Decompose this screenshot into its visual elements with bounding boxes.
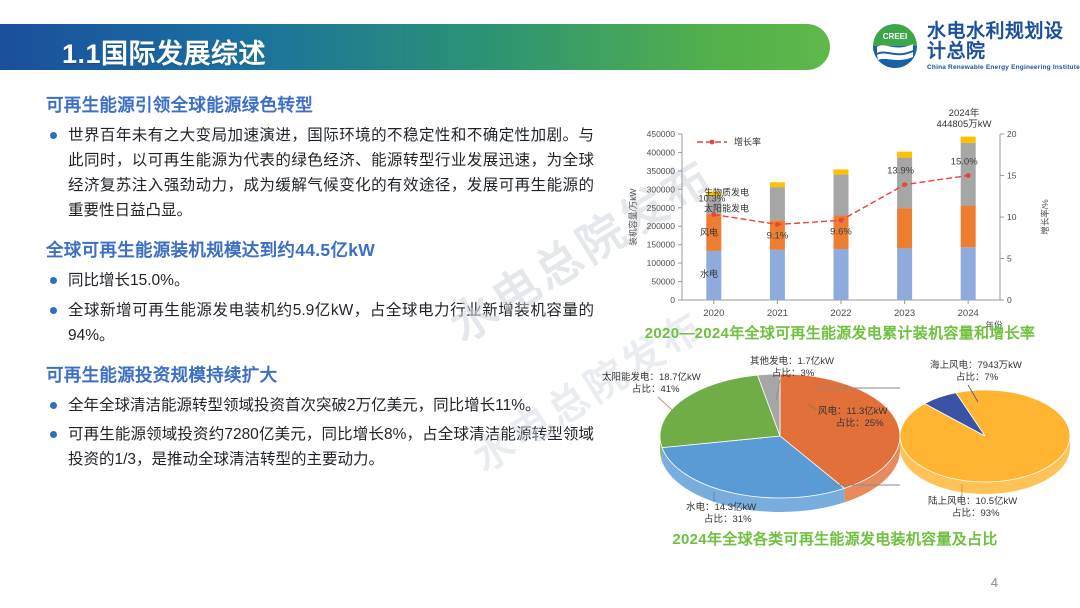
series-inline-label: 风电 <box>700 226 718 237</box>
bar-chart-caption: 2020—2024年全球可再生能源发电累计装机容量和增长率 <box>612 322 1068 343</box>
legend-marker <box>710 140 715 145</box>
logo-text-english: China Renewable Energy Engineering Insti… <box>927 64 1080 71</box>
y-axis-title: 装机容量/万kW <box>628 188 638 245</box>
pie-label-solar: 太阳能发电：18.7亿kW <box>602 371 701 383</box>
pie-chart-caption: 2024年全球各类可再生能源发电装机容量及占比 <box>600 528 1070 549</box>
slide: 1.1国际发展综述 CREEI 水电水利规划设计总院 China Renewab… <box>0 0 1080 608</box>
list-item: 全年全球清洁能源转型领域投资首次突破2万亿美元，同比增长11%。 <box>46 393 594 418</box>
x-tick-label: 2024 <box>958 308 979 319</box>
stacked-bar-chart: 0500001000001500002000002500003000003500… <box>612 104 1068 344</box>
bar-segment-1 <box>897 208 912 248</box>
growth-rate-label: 15.0% <box>951 157 978 168</box>
pie-share-hydro: 占比：31% <box>704 513 752 525</box>
y2-axis-title: 增长率/% <box>1040 199 1050 235</box>
series-inline-label: 生物质发电 <box>704 187 749 198</box>
page-number: 4 <box>991 575 998 590</box>
y-tick-label: 0 <box>670 295 675 305</box>
bar-segment-2 <box>834 175 849 216</box>
creei-logo-icon: CREEI <box>872 23 918 69</box>
pie-label-other: 其他发电：1.7亿kW <box>750 355 834 367</box>
section-bullets-1: 世界百年未有之大变局加速演进，国际环境的不稳定性和不确定性加剧。与此同时，以可再… <box>46 123 594 223</box>
y-tick-label: 100000 <box>647 258 676 268</box>
legend-label: 增长率 <box>734 136 761 147</box>
bar-chart-svg: 0500001000001500002000002500003000003500… <box>612 104 1068 344</box>
list-item: 全球新增可再生能源发电装机约5.9亿kW，占全球电力行业新增装机容量的94%。 <box>46 298 594 348</box>
bar-segment-1 <box>961 206 976 248</box>
pie-label-onshore: 陆上风电：10.5亿kW <box>928 495 1017 507</box>
pie-label-offshore: 海上风电：7943万kW <box>930 359 1022 371</box>
pie-share-onshore: 占比：93% <box>952 507 1000 519</box>
list-item: 可再生能源领域投资约7280亿美元，同比增长8%，占全球清洁能源转型领域投资的1… <box>46 422 594 472</box>
y2-tick-label: 0 <box>1007 295 1012 305</box>
leader-line-solar <box>658 397 672 410</box>
pie-chart-svg: 太阳能发电：18.7亿kW占比：41%其他发电：1.7亿kW占比：3%风电：11… <box>600 352 1070 528</box>
content-left-column: 可再生能源引领全球能源绿色转型 世界百年未有之大变局加速演进，国际环境的不稳定性… <box>46 92 594 476</box>
y-tick-label: 400000 <box>647 147 676 157</box>
bar-segment-3 <box>897 152 912 158</box>
series-inline-label: 水电 <box>700 268 718 279</box>
annotation-value: 444805万kW <box>937 119 992 130</box>
y-tick-label: 300000 <box>647 184 676 194</box>
pie-label-wind: 风电：11.3亿kW <box>818 405 888 417</box>
pie-chart: 太阳能发电：18.7亿kW占比：41%其他发电：1.7亿kW占比：3%风电：11… <box>600 352 1070 528</box>
y2-tick-label: 20 <box>1007 129 1017 139</box>
pie-share-offshore: 占比：7% <box>956 371 999 383</box>
bar-segment-0 <box>834 249 849 300</box>
list-item: 世界百年未有之大变局加速演进，国际环境的不稳定性和不确定性加剧。与此同时，以可再… <box>46 123 594 223</box>
bar-segment-3 <box>770 182 785 187</box>
y2-tick-label: 5 <box>1007 254 1012 264</box>
bar-segment-0 <box>961 247 976 300</box>
section-bullets-3: 全年全球清洁能源转型领域投资首次突破2万亿美元，同比增长11%。 可再生能源领域… <box>46 393 594 472</box>
bar-segment-0 <box>770 250 785 300</box>
annotation-year: 2024年 <box>949 107 980 119</box>
pie-label-hydro: 水电：14.3亿kW <box>686 501 756 513</box>
y2-tick-label: 15 <box>1007 171 1017 181</box>
svg-text:CREEI: CREEI <box>883 32 907 41</box>
growth-rate-label: 13.9% <box>887 166 914 177</box>
y-tick-label: 50000 <box>651 277 675 287</box>
x-tick-label: 2021 <box>767 308 788 319</box>
page-title: 1.1国际发展综述 <box>62 32 266 71</box>
y-tick-label: 350000 <box>647 166 676 176</box>
y-tick-label: 250000 <box>647 203 676 213</box>
growth-rate-point <box>775 222 780 227</box>
pie-share-wind: 占比：25% <box>836 417 884 429</box>
section-bullets-2: 同比增长15.0%。 全球新增可再生能源发电装机约5.9亿kW，占全球电力行业新… <box>46 268 594 347</box>
y2-tick-label: 10 <box>1007 212 1017 222</box>
x-tick-label: 2023 <box>894 308 915 319</box>
series-inline-label: 太阳能发电 <box>704 202 749 213</box>
bar-segment-2 <box>770 187 785 220</box>
x-tick-label: 2022 <box>830 308 851 319</box>
section-heading-1: 可再生能源引领全球能源绿色转型 <box>46 92 594 117</box>
section-heading-2: 全球可再生能源装机规模达到约44.5亿kW <box>46 237 594 262</box>
growth-rate-point <box>966 173 971 178</box>
section-heading-3: 可再生能源投资规模持续扩大 <box>46 362 594 387</box>
growth-rate-point <box>902 182 907 187</box>
pie-share-other: 占比：3% <box>772 367 815 379</box>
bar-segment-3 <box>961 137 976 143</box>
bar-segment-3 <box>834 169 849 174</box>
company-logo: CREEI 水电水利规划设计总院 China Renewable Energy … <box>872 22 1080 71</box>
growth-rate-point <box>839 218 844 223</box>
pie-share-solar: 占比：41% <box>632 383 680 395</box>
logo-text-chinese: 水电水利规划设计总院 <box>927 22 1080 62</box>
growth-rate-label: 9.6% <box>830 226 852 237</box>
x-tick-label: 2020 <box>703 308 724 319</box>
y-tick-label: 200000 <box>647 221 676 231</box>
growth-rate-label: 9.1% <box>767 230 789 241</box>
y-tick-label: 450000 <box>647 129 676 139</box>
bar-segment-0 <box>897 248 912 300</box>
y-tick-label: 150000 <box>647 240 676 250</box>
list-item: 同比增长15.0%。 <box>46 268 594 293</box>
